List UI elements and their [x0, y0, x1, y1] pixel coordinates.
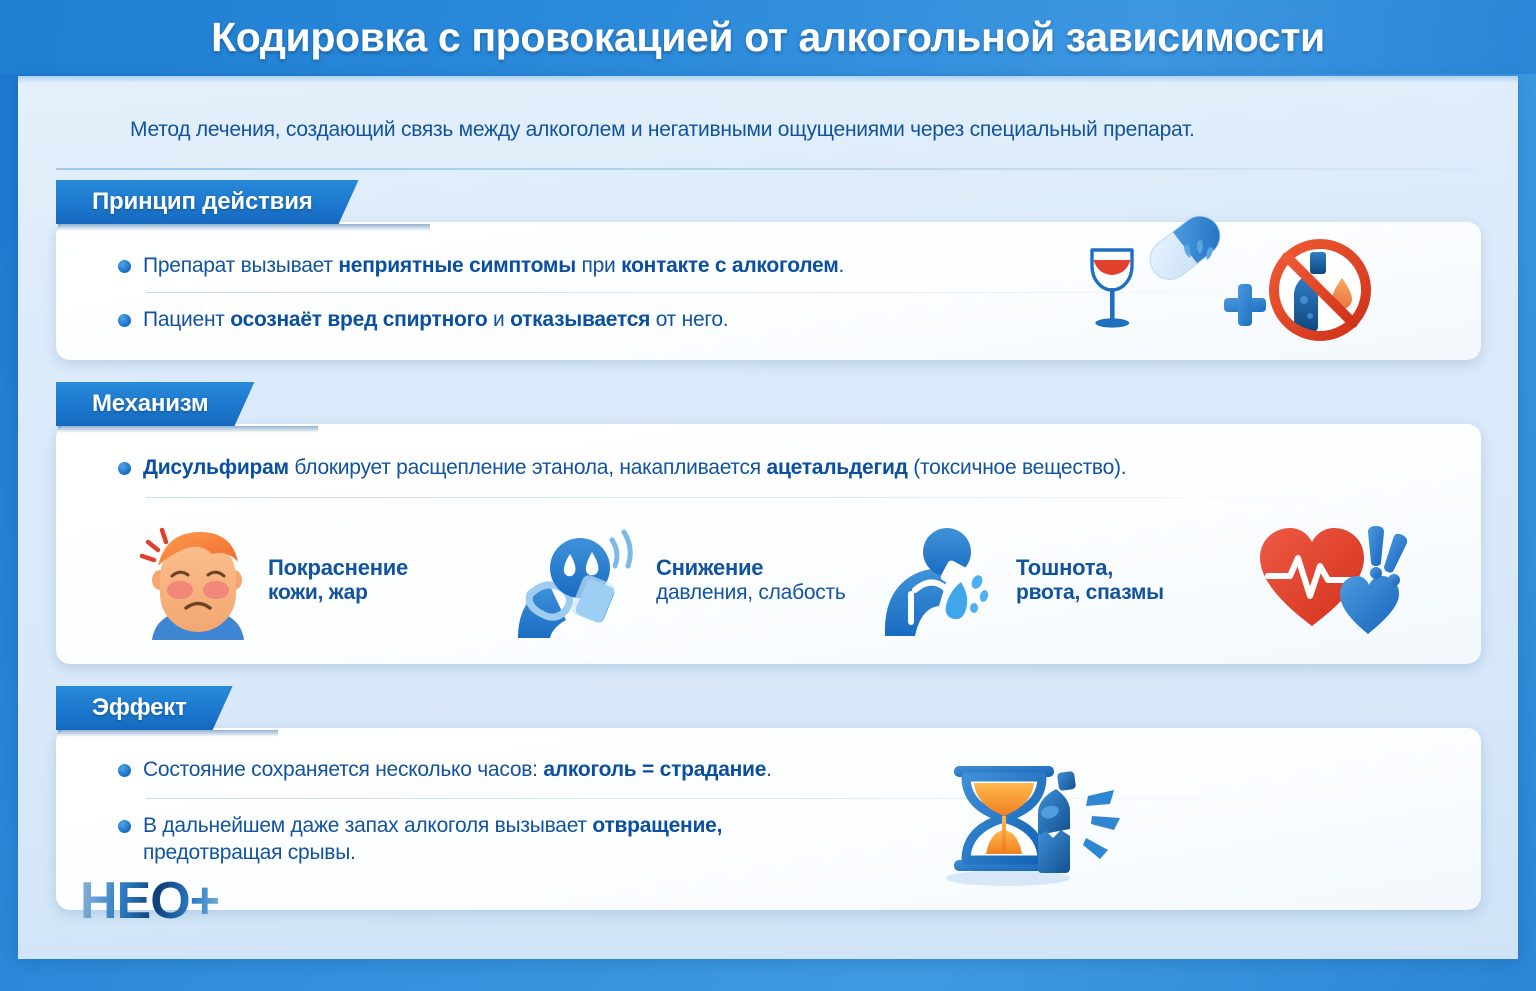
bullet-dot-icon	[118, 462, 131, 475]
section-tab-label: Механизм	[92, 390, 208, 418]
dizzy-person-icon	[516, 520, 646, 640]
card-mechanism: Дисульфирам блокирует расщепление этанол…	[56, 424, 1481, 664]
illustration-group	[1076, 232, 1376, 352]
symptom-item-flushing: Покраснение кожи, жар	[138, 520, 408, 640]
tab-shadow-1	[58, 224, 430, 231]
logo-text: НЕО+	[80, 875, 219, 927]
bullet-dot-icon	[118, 820, 131, 833]
section-tab-principle[interactable]: Принцип действия	[56, 180, 359, 224]
wine-glass-icon	[1092, 250, 1132, 328]
bullet-dot-icon	[118, 314, 131, 327]
bullet-item: Дисульфирам блокирует расщепление этанол…	[118, 454, 1408, 481]
exclamation-marks-icon	[1368, 526, 1408, 586]
bullet-item: Состояние сохраняется несколько часов: а…	[118, 756, 1018, 783]
tab-shadow-2	[58, 426, 318, 433]
symptom-line-1: Покраснение	[268, 555, 408, 581]
dizzy-waves-icon	[612, 532, 630, 566]
page-title: Кодировка с провокацией от алкогольной з…	[211, 14, 1325, 61]
bullet-text: Препарат вызывает неприятные симптомы пр…	[143, 252, 844, 279]
vomiting-person-icon	[881, 520, 1006, 640]
symptom-label: Снижение давления, слабость	[656, 555, 846, 606]
brand-logo[interactable]: НЕО+	[80, 875, 219, 927]
splash-icon	[970, 574, 990, 613]
bullet-dot-icon	[118, 260, 131, 273]
content-panel: Метод лечения, создающий связь между алк…	[18, 76, 1518, 959]
bullet-divider	[146, 497, 1386, 498]
principle-illustration	[1076, 232, 1376, 352]
section-tab-label: Принцип действия	[92, 188, 313, 216]
symptom-item-lowpressure: Снижение давления, слабость	[516, 520, 846, 640]
symptom-item-heart	[1256, 520, 1416, 640]
symptom-line-1: Снижение	[656, 555, 846, 581]
shatter-lines-icon	[1083, 790, 1120, 859]
bullet-text: Состояние сохраняется несколько часов: а…	[143, 756, 772, 783]
card-effect: Состояние сохраняется несколько часов: а…	[56, 728, 1481, 910]
section-tab-mechanism[interactable]: Механизм	[56, 382, 254, 426]
bullet-item: В дальнейшем даже запах алкоголя вызывае…	[118, 812, 1018, 867]
symptom-line-2: давления, слабость	[656, 581, 846, 606]
symptom-item-nausea: Тошнота, рвота, спазмы	[881, 520, 1164, 640]
flushed-face-icon	[138, 520, 258, 640]
symptom-label: Покраснение кожи, жар	[268, 555, 408, 606]
no-alcohol-bottle-icon	[1272, 242, 1368, 338]
section-tab-effect[interactable]: Эффект	[56, 686, 233, 730]
card-principle: Препарат вызывает неприятные симптомы пр…	[56, 222, 1481, 360]
heart-pulse-alert-icon	[1256, 520, 1416, 640]
symptom-line-2: кожи, жар	[268, 581, 408, 606]
plus-sign-icon	[1224, 284, 1266, 326]
intro-text: Метод лечения, создающий связь между алк…	[130, 118, 1440, 142]
symptom-line-2: рвота, спазмы	[1016, 581, 1164, 606]
symptom-line-1: Тошнота,	[1016, 555, 1164, 581]
section-tab-label: Эффект	[92, 694, 187, 722]
infographic-poster: Кодировка с провокацией от алкогольной з…	[0, 0, 1536, 991]
bullet-text: Дисульфирам блокирует расщепление этанол…	[143, 454, 1126, 481]
poster-title-bar: Кодировка с провокацией от алкогольной з…	[0, 0, 1536, 74]
bullet-text: Пациент осознаёт вред спиртного и отказы…	[143, 306, 728, 333]
symptom-label: Тошнота, рвота, спазмы	[1016, 555, 1164, 606]
bullet-item: Пациент осознаёт вред спиртного и отказы…	[118, 306, 1118, 333]
tab-shadow-3	[58, 730, 278, 737]
intro-divider	[56, 168, 1481, 170]
effect-illustration	[916, 756, 1156, 886]
bullet-item: Препарат вызывает неприятные симптомы пр…	[118, 252, 1118, 279]
bullet-text: В дальнейшем даже запах алкоголя вызывае…	[143, 812, 722, 867]
broken-bottle-icon	[1038, 771, 1120, 873]
bullet-dot-icon	[118, 764, 131, 777]
